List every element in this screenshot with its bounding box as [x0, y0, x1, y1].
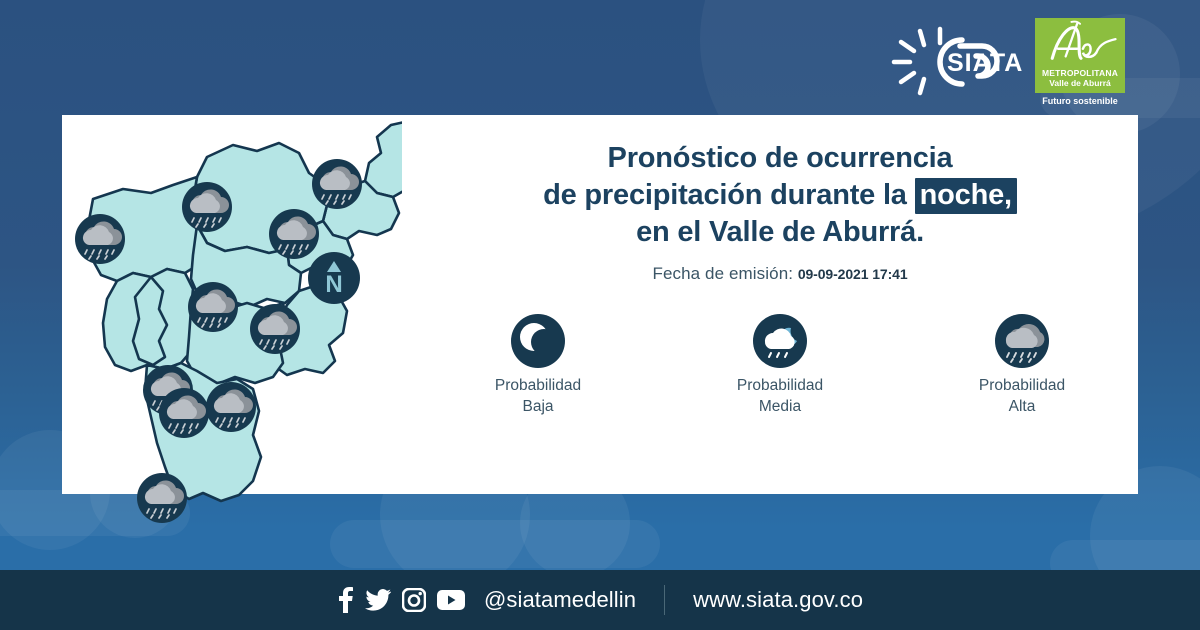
legend-item-baja: Probabilidad Baja	[458, 313, 618, 417]
infographic-canvas: SIATA METROPOLITANA Valle de Aburrá Futu…	[0, 0, 1200, 630]
facebook-icon[interactable]	[337, 587, 354, 613]
emission-date: Fecha de emisión: 09-09-2021 17:41	[450, 264, 1110, 284]
marker-copacabana[interactable]	[269, 209, 319, 259]
sun-cloud-icon: SIATA	[890, 26, 1040, 98]
marker-girardota[interactable]	[312, 159, 362, 209]
siata-wordmark: SIATA	[947, 49, 1023, 77]
legend-icon-wrap	[458, 313, 618, 369]
region-barbosa	[365, 111, 402, 197]
legend-label-baja: Probabilidad Baja	[458, 375, 618, 417]
legend-line2: Baja	[522, 398, 553, 415]
website-url[interactable]: www.siata.gov.co	[693, 587, 863, 613]
aburra-valley-map[interactable]: N	[62, 52, 392, 572]
legend: Probabilidad Baja	[450, 313, 1110, 417]
legend-label-media: Probabilidad Media	[700, 375, 860, 417]
compass-north-icon: N	[308, 252, 360, 304]
legend-line1: Probabilidad	[495, 377, 581, 394]
social-handle[interactable]: @siatamedellin	[484, 587, 636, 613]
twitter-icon[interactable]	[365, 589, 391, 611]
siata-logo[interactable]: SIATA	[890, 26, 1040, 96]
title-line-2: de precipitación durante la	[543, 179, 907, 211]
marker-guarne[interactable]	[250, 304, 300, 354]
area-script-icon	[1035, 20, 1121, 66]
social-icons	[337, 587, 465, 613]
legend-line1: Probabilidad	[979, 377, 1065, 394]
forecast-content: Pronóstico de ocurrencia de precipitació…	[450, 140, 1110, 417]
logo-green-box: METROPOLITANA Valle de Aburrá	[1035, 18, 1125, 93]
area-metropolitana-logo[interactable]: METROPOLITANA Valle de Aburrá Futuro sos…	[1035, 18, 1135, 110]
marker-sabaneta[interactable]	[159, 388, 209, 438]
cloud-moon-rain-icon	[753, 314, 807, 368]
logo-line-valle: Valle de Aburrá	[1035, 78, 1125, 88]
footer-bar: @siatamedellin www.siata.gov.co	[0, 570, 1200, 630]
youtube-icon[interactable]	[437, 590, 465, 610]
emission-label: Fecha de emisión:	[652, 264, 793, 283]
legend-line1: Probabilidad	[737, 377, 823, 394]
marker-envigado[interactable]	[137, 473, 187, 523]
marker-medellin[interactable]	[188, 282, 238, 332]
title-line-1: Pronóstico de ocurrencia	[608, 142, 953, 174]
compass-label: N	[325, 271, 342, 298]
legend-line2: Media	[759, 398, 801, 415]
marker-san-jeronimo[interactable]	[75, 214, 125, 264]
title-highlight-noche: noche,	[915, 178, 1017, 214]
cloud-rain-icon	[995, 314, 1049, 368]
legend-icon-wrap	[700, 313, 860, 369]
logo-tagline: Futuro sostenible	[1035, 96, 1125, 107]
legend-label-alta: Probabilidad Alta	[942, 375, 1102, 417]
region-medellin	[103, 269, 197, 371]
legend-item-media: Probabilidad Media	[700, 313, 860, 417]
legend-line2: Alta	[1009, 398, 1036, 415]
instagram-icon[interactable]	[402, 588, 426, 612]
legend-icon-wrap	[942, 313, 1102, 369]
moon-icon	[511, 314, 565, 368]
title-line-3: en el Valle de Aburrá.	[636, 216, 924, 248]
legend-item-alta: Probabilidad Alta	[942, 313, 1102, 417]
marker-la-estrella[interactable]	[206, 382, 256, 432]
logo-line-metropolitana: METROPOLITANA	[1035, 68, 1125, 78]
page-title: Pronóstico de ocurrencia de precipitació…	[450, 140, 1110, 251]
footer-divider	[664, 585, 665, 615]
emission-value: 09-09-2021 17:41	[798, 266, 908, 282]
marker-bello[interactable]	[182, 182, 232, 232]
